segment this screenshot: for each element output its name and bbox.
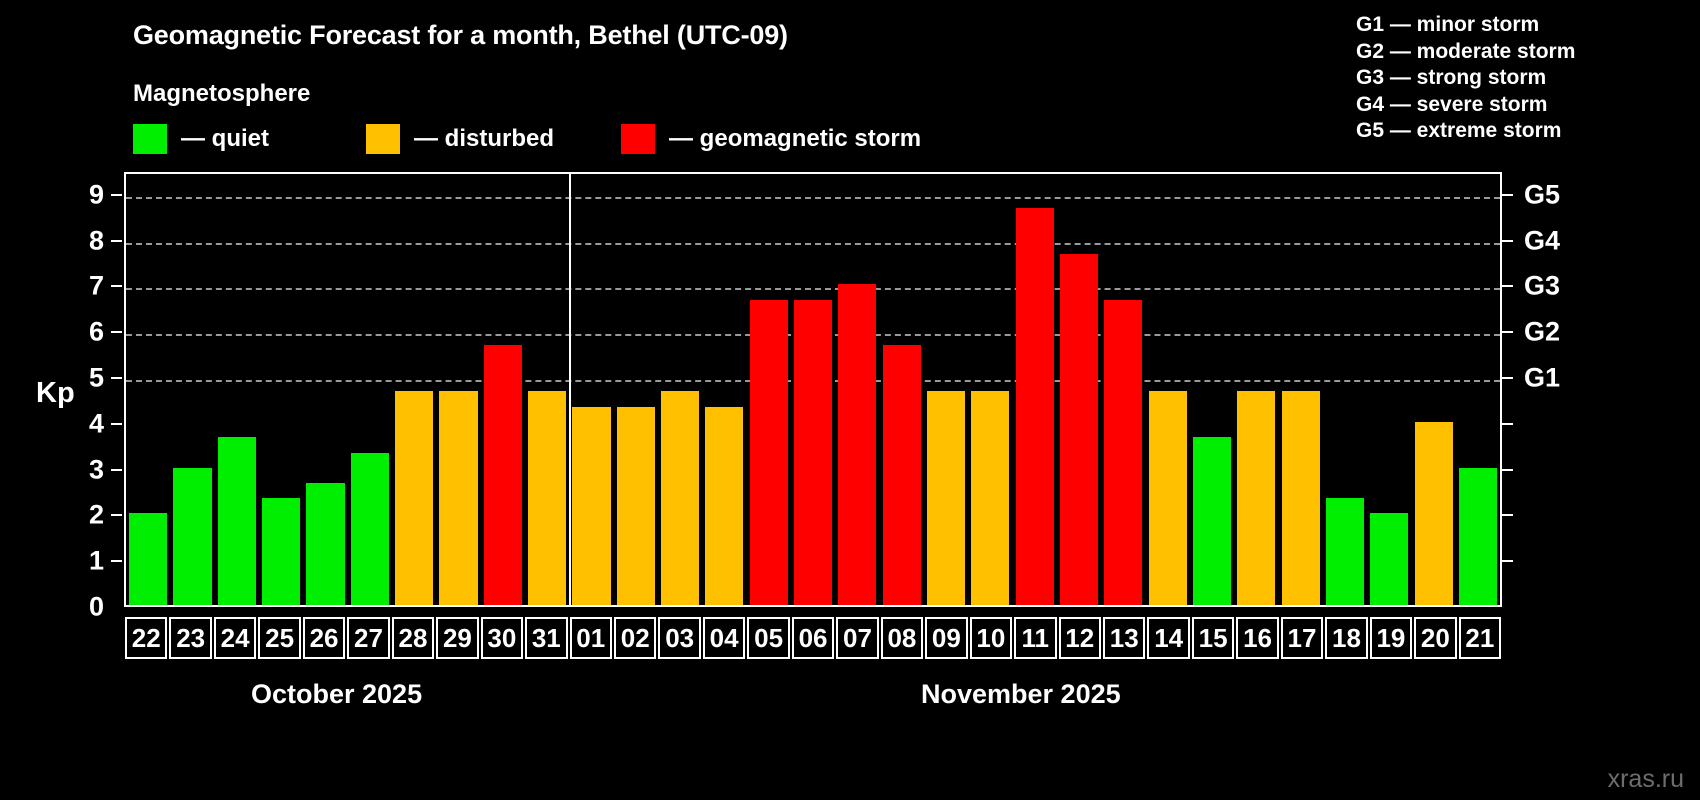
date-cell-04[interactable]: 04	[703, 617, 745, 659]
date-cell-13[interactable]: 13	[1103, 617, 1145, 659]
bar-slot-27[interactable]	[348, 174, 392, 605]
bar-06[interactable]	[794, 300, 832, 605]
month-label-november: November 2025	[921, 679, 1121, 710]
storm-key-row-g1: G1 — minor storm	[1356, 12, 1686, 39]
y-tick-label-0: 0	[89, 594, 104, 621]
bar-slot-07[interactable]	[835, 174, 879, 605]
date-cell-14[interactable]: 14	[1147, 617, 1189, 659]
date-cell-20[interactable]: 20	[1414, 617, 1456, 659]
y-tick-mark-8	[111, 240, 122, 242]
bar-21[interactable]	[1459, 468, 1497, 605]
bar-slot-26[interactable]	[303, 174, 347, 605]
y-tick-mark-7	[111, 285, 122, 287]
y-tick-mark-5	[111, 377, 122, 379]
bar-slot-03[interactable]	[658, 174, 702, 605]
bar-slot-17[interactable]	[1279, 174, 1323, 605]
bar-slot-25[interactable]	[259, 174, 303, 605]
bar-slot-31[interactable]	[525, 174, 569, 605]
date-cell-12[interactable]: 12	[1059, 617, 1101, 659]
date-cell-17[interactable]: 17	[1281, 617, 1323, 659]
plot-inner	[126, 174, 1500, 605]
y-tick-label-7: 7	[89, 273, 104, 300]
bar-05[interactable]	[750, 300, 788, 605]
bar-slot-11[interactable]	[1013, 174, 1057, 605]
legend-label-quiet: — quiet	[181, 125, 269, 153]
legend-swatch-disturbed-icon	[366, 124, 400, 154]
bar-16[interactable]	[1237, 391, 1275, 605]
bar-07[interactable]	[838, 284, 876, 605]
bar-02[interactable]	[617, 407, 655, 605]
legend-swatch-quiet-icon	[133, 124, 167, 154]
date-cell-18[interactable]: 18	[1325, 617, 1367, 659]
bar-slot-15[interactable]	[1190, 174, 1234, 605]
magnetosphere-label: Magnetosphere	[133, 80, 310, 108]
bar-slot-08[interactable]	[880, 174, 924, 605]
date-cell-25[interactable]: 25	[258, 617, 300, 659]
y-tick-mark-2	[111, 514, 122, 516]
date-cell-26[interactable]: 26	[303, 617, 345, 659]
date-cell-02[interactable]: 02	[614, 617, 656, 659]
page-title: Geomagnetic Forecast for a month, Bethel…	[133, 20, 788, 51]
legend: — quiet — disturbed — geomagnetic storm	[133, 123, 921, 155]
date-cell-16[interactable]: 16	[1236, 617, 1278, 659]
bar-slot-09[interactable]	[924, 174, 968, 605]
bar-slot-13[interactable]	[1101, 174, 1145, 605]
g-tick-label-g2: G2	[1524, 319, 1560, 346]
storm-key-row-g4: G4 — severe storm	[1356, 92, 1686, 119]
date-cell-29[interactable]: 29	[436, 617, 478, 659]
date-axis: 2223242526272829303101020304050607080910…	[124, 617, 1502, 659]
bar-09[interactable]	[927, 391, 965, 605]
date-cell-30[interactable]: 30	[481, 617, 523, 659]
date-cell-09[interactable]: 09	[925, 617, 967, 659]
bar-10[interactable]	[971, 391, 1009, 605]
bar-slot-24[interactable]	[215, 174, 259, 605]
date-cell-31[interactable]: 31	[525, 617, 567, 659]
date-cell-15[interactable]: 15	[1192, 617, 1234, 659]
date-cell-07[interactable]: 07	[836, 617, 878, 659]
date-cell-03[interactable]: 03	[658, 617, 700, 659]
y-tick-label-9: 9	[89, 181, 104, 208]
y-tick-label-8: 8	[89, 227, 104, 254]
bar-17[interactable]	[1282, 391, 1320, 605]
legend-label-disturbed: — disturbed	[414, 125, 554, 153]
g-tick-mark-g4	[1502, 240, 1513, 242]
bar-18[interactable]	[1326, 498, 1364, 605]
bar-27[interactable]	[351, 453, 389, 605]
bar-slot-02[interactable]	[614, 174, 658, 605]
bar-slot-14[interactable]	[1146, 174, 1190, 605]
y-tick-mark-4	[111, 423, 122, 425]
bar-slot-16[interactable]	[1234, 174, 1278, 605]
bar-slot-30[interactable]	[481, 174, 525, 605]
month-label-october: October 2025	[251, 679, 422, 710]
legend-swatch-storm-icon	[621, 124, 655, 154]
date-cell-24[interactable]: 24	[214, 617, 256, 659]
bar-24[interactable]	[218, 437, 256, 605]
date-cell-19[interactable]: 19	[1370, 617, 1412, 659]
bar-slot-29[interactable]	[436, 174, 480, 605]
g-tick-mark-g3	[1502, 285, 1513, 287]
date-cell-22[interactable]: 22	[125, 617, 167, 659]
bar-slot-23[interactable]	[170, 174, 214, 605]
bar-31[interactable]	[528, 391, 566, 605]
g-tick-label-g4: G4	[1524, 227, 1560, 254]
y-tick-label-2: 2	[89, 502, 104, 529]
g-tick-label-g3: G3	[1524, 273, 1560, 300]
plot-area	[124, 172, 1502, 607]
y-tick-label-1: 1	[89, 548, 104, 575]
bar-12[interactable]	[1060, 254, 1098, 605]
bar-03[interactable]	[661, 391, 699, 605]
storm-key-row-g3: G3 — strong storm	[1356, 65, 1686, 92]
date-cell-05[interactable]: 05	[747, 617, 789, 659]
bar-20[interactable]	[1415, 422, 1453, 605]
bar-28[interactable]	[395, 391, 433, 605]
g-axis-minor-mark-1	[1502, 560, 1513, 562]
date-cell-10[interactable]: 10	[970, 617, 1012, 659]
legend-label-storm: — geomagnetic storm	[669, 125, 921, 153]
storm-key-row-g5: G5 — extreme storm	[1356, 118, 1686, 145]
bar-15[interactable]	[1193, 437, 1231, 605]
bar-11[interactable]	[1016, 208, 1054, 605]
date-cell-23[interactable]: 23	[169, 617, 211, 659]
y-axis-g-scale: G1G2G3G4G5	[1502, 172, 1692, 607]
g-tick-mark-g5	[1502, 194, 1513, 196]
storm-key-row-g2: G2 — moderate storm	[1356, 39, 1686, 66]
g-tick-mark-g2	[1502, 331, 1513, 333]
g-axis-minor-mark-2	[1502, 514, 1513, 516]
bar-22[interactable]	[129, 513, 167, 605]
bar-slot-04[interactable]	[702, 174, 746, 605]
g-tick-mark-g1	[1502, 377, 1513, 379]
bar-23[interactable]	[173, 468, 211, 605]
y-axis-title: Kp	[36, 377, 75, 410]
date-cell-21[interactable]: 21	[1459, 617, 1501, 659]
y-tick-label-5: 5	[89, 365, 104, 392]
date-cell-11[interactable]: 11	[1014, 617, 1056, 659]
g-axis-minor-mark-4	[1502, 423, 1513, 425]
bar-slot-12[interactable]	[1057, 174, 1101, 605]
bar-slot-28[interactable]	[392, 174, 436, 605]
bar-29[interactable]	[439, 391, 477, 605]
legend-item-quiet: — quiet	[133, 124, 269, 154]
month-divider	[569, 174, 571, 605]
bar-30[interactable]	[484, 345, 522, 605]
legend-item-storm: — geomagnetic storm	[621, 124, 921, 154]
g-tick-label-g5: G5	[1524, 181, 1560, 208]
y-tick-mark-1	[111, 560, 122, 562]
bar-08[interactable]	[883, 345, 921, 605]
bar-13[interactable]	[1104, 300, 1142, 605]
bar-slot-05[interactable]	[747, 174, 791, 605]
storm-scale-key: G1 — minor storm G2 — moderate storm G3 …	[1356, 12, 1686, 145]
g-axis-minor-mark-3	[1502, 469, 1513, 471]
y-tick-label-3: 3	[89, 456, 104, 483]
watermark: xras.ru	[1608, 765, 1684, 794]
bar-slot-21[interactable]	[1456, 174, 1500, 605]
y-tick-mark-9	[111, 194, 122, 196]
bar-slot-06[interactable]	[791, 174, 835, 605]
bar-slot-19[interactable]	[1367, 174, 1411, 605]
bar-19[interactable]	[1370, 513, 1408, 605]
bar-slot-18[interactable]	[1323, 174, 1367, 605]
y-tick-label-6: 6	[89, 319, 104, 346]
bar-slot-01[interactable]	[569, 174, 613, 605]
y-tick-mark-3	[111, 469, 122, 471]
date-cell-06[interactable]: 06	[792, 617, 834, 659]
bar-01[interactable]	[572, 407, 610, 605]
bar-14[interactable]	[1149, 391, 1187, 605]
date-cell-28[interactable]: 28	[392, 617, 434, 659]
bar-series	[126, 174, 1500, 605]
bar-04[interactable]	[705, 407, 743, 605]
bar-26[interactable]	[306, 483, 344, 605]
bar-slot-10[interactable]	[968, 174, 1012, 605]
g-tick-label-g1: G1	[1524, 365, 1560, 392]
geomagnetic-forecast-chart: Geomagnetic Forecast for a month, Bethel…	[0, 0, 1700, 800]
date-cell-27[interactable]: 27	[347, 617, 389, 659]
bar-slot-22[interactable]	[126, 174, 170, 605]
bar-slot-20[interactable]	[1412, 174, 1456, 605]
date-cell-08[interactable]: 08	[881, 617, 923, 659]
y-tick-mark-6	[111, 331, 122, 333]
date-cell-01[interactable]: 01	[570, 617, 612, 659]
y-tick-label-4: 4	[89, 410, 104, 437]
bar-25[interactable]	[262, 498, 300, 605]
legend-item-disturbed: — disturbed	[366, 124, 554, 154]
